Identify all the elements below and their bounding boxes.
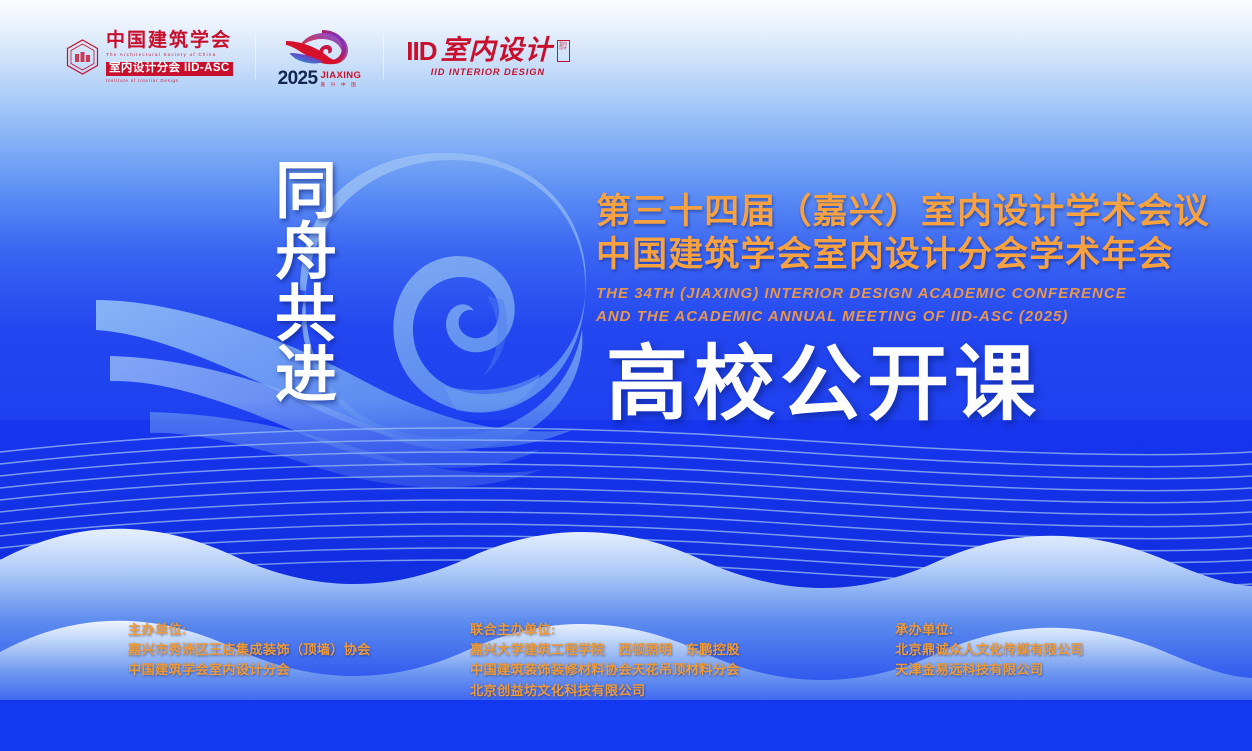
credit-line: 嘉兴大学建筑工程学院 西顿照明 东鹏控股 bbox=[470, 640, 740, 660]
credit-heading: 承办单位: bbox=[895, 620, 1084, 640]
logo-bar: 中国建筑学会 The Architectural Society of Chin… bbox=[44, 26, 592, 88]
asc-logo: 中国建筑学会 The Architectural Society of Chin… bbox=[44, 26, 255, 88]
jiaxing-logo-cn-name: 嘉 兴 中 国 bbox=[320, 83, 361, 88]
vertical-slogan: 同 舟 共 进 bbox=[264, 162, 348, 408]
slogan-char-1: 同 bbox=[275, 162, 337, 223]
asc-seal-icon bbox=[66, 39, 99, 75]
slogan-char-4: 进 bbox=[275, 346, 337, 407]
credit-line: 北京鼎诚众人文化传媒有限公司 bbox=[895, 640, 1084, 660]
conference-banner: 中国建筑学会 The Architectural Society of Chin… bbox=[0, 0, 1252, 751]
iid-logo-en-name: IID INTERIOR DESIGN bbox=[431, 67, 545, 77]
credit-line: 天津金易远科技有限公司 bbox=[895, 660, 1084, 680]
credit-column-co-organizer: 联合主办单位: 嘉兴大学建筑工程学院 西顿照明 东鹏控股 中国建筑装饰装修材料协… bbox=[470, 620, 740, 701]
credit-line: 中国建筑学会室内设计分会 bbox=[128, 660, 371, 680]
asc-logo-subtitle-en: Institute of Interior Design bbox=[106, 79, 233, 83]
iid-logo-mark: IID bbox=[406, 38, 436, 64]
asc-logo-cn-name: 中国建筑学会 bbox=[106, 31, 233, 50]
credit-line: 北京创益坊文化科技有限公司 bbox=[470, 681, 740, 701]
credit-line: 中国建筑装饰装修材料协会天花吊顶材料分会 bbox=[470, 660, 740, 680]
jiaxing-2025-logo: 2025 JIAXING 嘉 兴 中 国 bbox=[256, 26, 384, 88]
iid-seal-icon: 室内设计 bbox=[557, 40, 570, 62]
conference-title-en-line-1: THE 34TH (JIAXING) INTERIOR DESIGN ACADE… bbox=[596, 283, 1148, 306]
jiaxing-logo-year: 2025 bbox=[278, 69, 318, 88]
asc-logo-subtitle-cn: 室内设计分会 IID-ASC bbox=[106, 62, 233, 77]
credit-line: 嘉兴市秀洲区王店集成装饰（顶墙）协会 bbox=[128, 640, 371, 660]
asc-logo-en-name: The Architectural Society of China bbox=[106, 53, 233, 58]
jiaxing-swirl-icon bbox=[282, 27, 356, 67]
headline-block: 第三十四届（嘉兴）室内设计学术会议 中国建筑学会室内设计分会学术年会 THE 3… bbox=[596, 190, 1156, 426]
sponsor-credits: 主办单位: 嘉兴市秀洲区王店集成装饰（顶墙）协会 中国建筑学会室内设计分会 联合… bbox=[0, 620, 1252, 710]
iid-logo: IID 室内设计 室内设计 IID INTERIOR DESIGN bbox=[384, 26, 591, 88]
feature-title: 高校公开课 bbox=[606, 344, 1156, 426]
slogan-char-3: 共 bbox=[275, 285, 337, 346]
conference-title-cn-line-2: 中国建筑学会室内设计分会学术年会 bbox=[596, 233, 1156, 276]
credit-column-organizer: 主办单位: 嘉兴市秀洲区王店集成装饰（顶墙）协会 中国建筑学会室内设计分会 bbox=[128, 620, 371, 681]
iid-logo-cn-name: 室内设计 bbox=[441, 37, 553, 64]
credit-heading: 主办单位: bbox=[128, 620, 371, 640]
jiaxing-logo-en-name: JIAXING bbox=[320, 71, 361, 81]
conference-title-cn-line-1: 第三十四届（嘉兴）室内设计学术会议 bbox=[596, 190, 1156, 233]
conference-title-en-line-2: AND THE ACADEMIC ANNUAL MEETING OF IID-A… bbox=[596, 306, 1148, 329]
credit-column-host: 承办单位: 北京鼎诚众人文化传媒有限公司 天津金易远科技有限公司 bbox=[895, 620, 1084, 681]
slogan-char-2: 舟 bbox=[275, 223, 337, 284]
credit-heading: 联合主办单位: bbox=[470, 620, 740, 640]
